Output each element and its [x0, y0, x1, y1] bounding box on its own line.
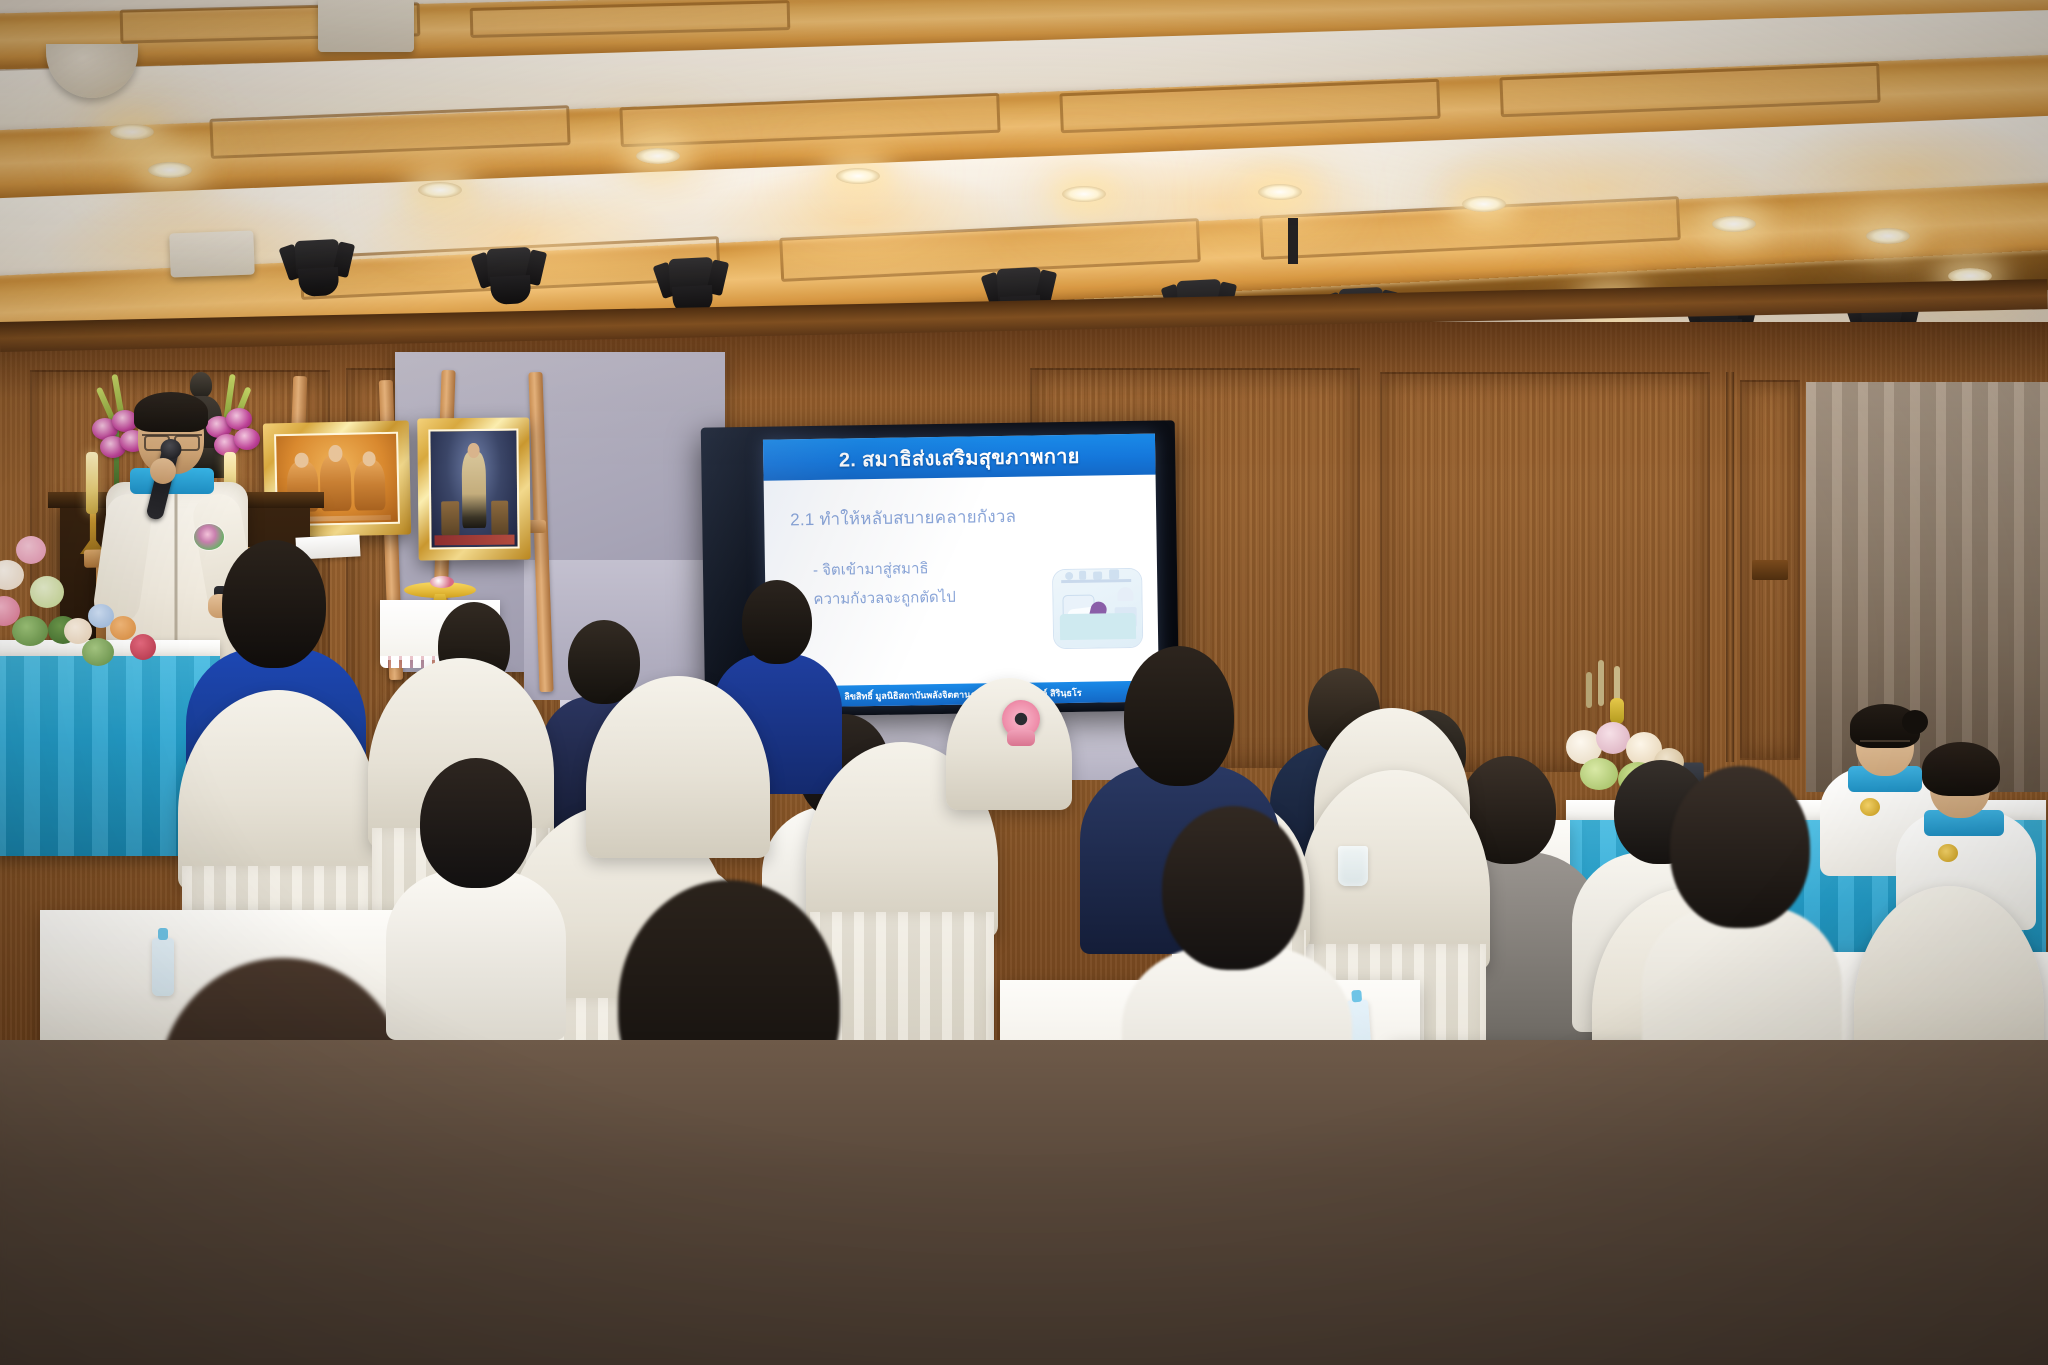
sleeping-illustration-icon: [1053, 569, 1142, 648]
framed-royal-portrait: [417, 417, 530, 560]
wall-vent: [1752, 560, 1788, 580]
ceiling-speaker: [169, 231, 254, 278]
uniform-badge-icon: [1860, 798, 1880, 816]
ceiling-speaker: [318, 0, 414, 52]
downlight: [836, 168, 880, 184]
hair-flower-icon: [1902, 710, 1928, 734]
downlight: [1712, 216, 1756, 232]
downlight: [110, 124, 154, 140]
attendee: [386, 758, 566, 1008]
flower-arrangement: [60, 594, 180, 684]
downlight: [636, 148, 680, 164]
downlight: [148, 162, 192, 178]
pink-portable-fan[interactable]: [998, 700, 1044, 748]
slide-title: 2. สมาธิส่งเสริมสุขภาพกาย: [763, 434, 1156, 481]
wall-seam: [1726, 372, 1734, 762]
ceiling-rod: [1288, 218, 1298, 264]
downlight: [1062, 186, 1106, 202]
attendee-foreground: [1642, 766, 1842, 1066]
slide-heading: 2.1 ทำให้หลับสบายคลายกังวล: [790, 501, 1134, 533]
stage-light: [285, 238, 352, 299]
seminar-room-photo: 2. สมาธิส่งเสริมสุขภาพกาย 2.1 ทำให้หลับส…: [0, 0, 2048, 1365]
downlight: [418, 182, 462, 198]
downlight: [1866, 228, 1910, 244]
floor: [0, 1040, 2048, 1365]
downlight: [1258, 184, 1302, 200]
uniform-badge-icon: [1938, 844, 1958, 862]
stage-light: [477, 246, 544, 307]
downlight: [1462, 196, 1506, 212]
staff-member: [1896, 740, 2036, 910]
